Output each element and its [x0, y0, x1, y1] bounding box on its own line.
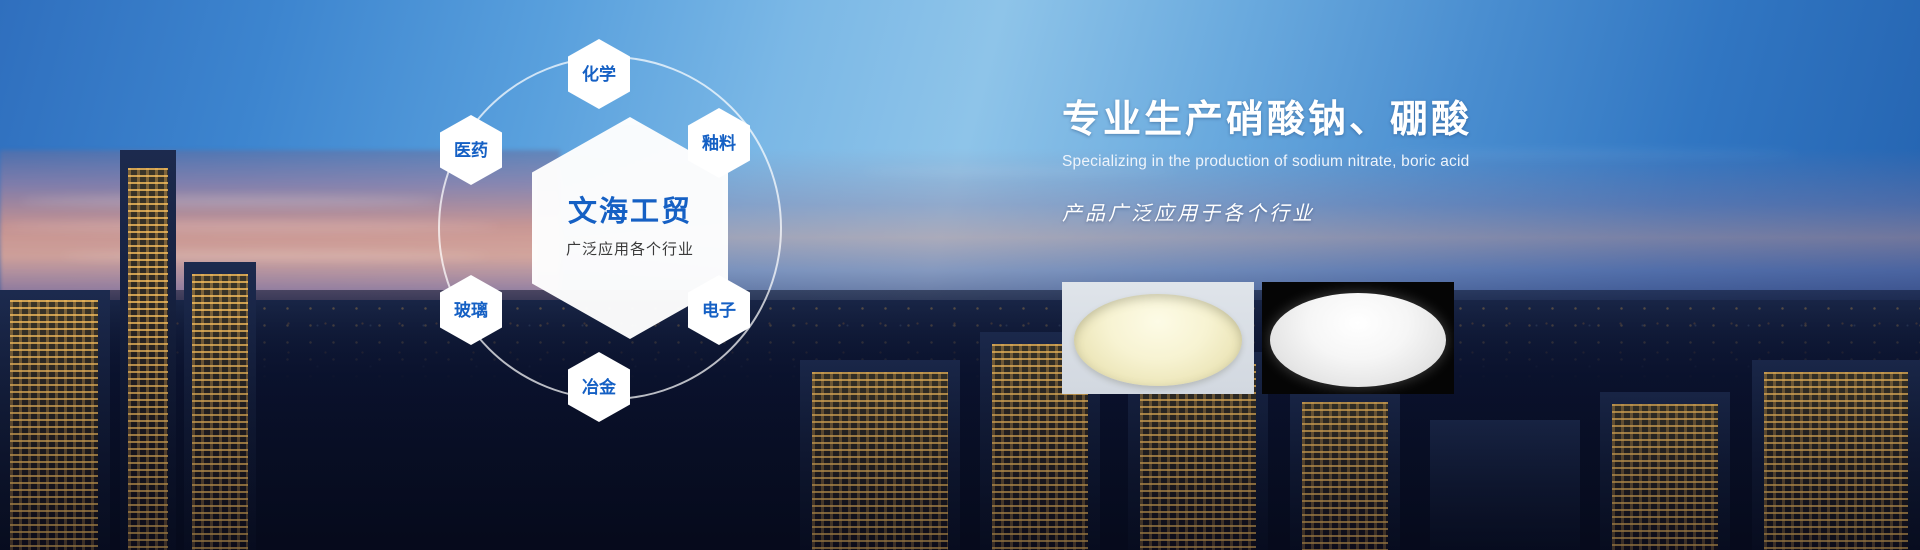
- hexagon-label-metallurgy: 冶金: [582, 379, 616, 396]
- headline-block: 专业生产硝酸钠、硼酸 Specializing in the productio…: [1062, 98, 1762, 226]
- hero-banner: 文海工贸 广泛应用各个行业 化学 釉料 电子 冶金 玻璃 医药 专业生产硝酸钠、…: [0, 0, 1920, 550]
- product-photo-strip: [1062, 282, 1454, 394]
- hexagon-label-electronics: 电子: [702, 302, 736, 319]
- powder-pile: [1270, 293, 1446, 387]
- hexagon-label-pharma: 医药: [454, 142, 488, 159]
- headline-subtitle-english: Specializing in the production of sodium…: [1062, 153, 1762, 171]
- page-title: 专业生产硝酸钠、硼酸: [1062, 98, 1762, 144]
- product-photo-boric-acid: [1262, 282, 1454, 394]
- background-photo-cityscape: [0, 0, 1920, 550]
- hexagon-label-glass: 玻璃: [454, 302, 488, 319]
- bottom-vignette: [0, 0, 1920, 550]
- hexagon-label-glaze: 釉料: [702, 135, 736, 152]
- tagline: 产品广泛应用于各个行业: [1062, 197, 1762, 226]
- product-photo-sodium-nitrate: [1062, 282, 1254, 394]
- brand-subtitle: 广泛应用各个行业: [566, 238, 694, 259]
- application-hexagon-diagram: 文海工贸 广泛应用各个行业 化学 釉料 电子 冶金 玻璃 医药: [420, 20, 840, 440]
- hexagon-label-chemistry: 化学: [582, 66, 616, 83]
- brand-name: 文海工贸: [568, 197, 692, 229]
- powder-pile: [1074, 294, 1242, 386]
